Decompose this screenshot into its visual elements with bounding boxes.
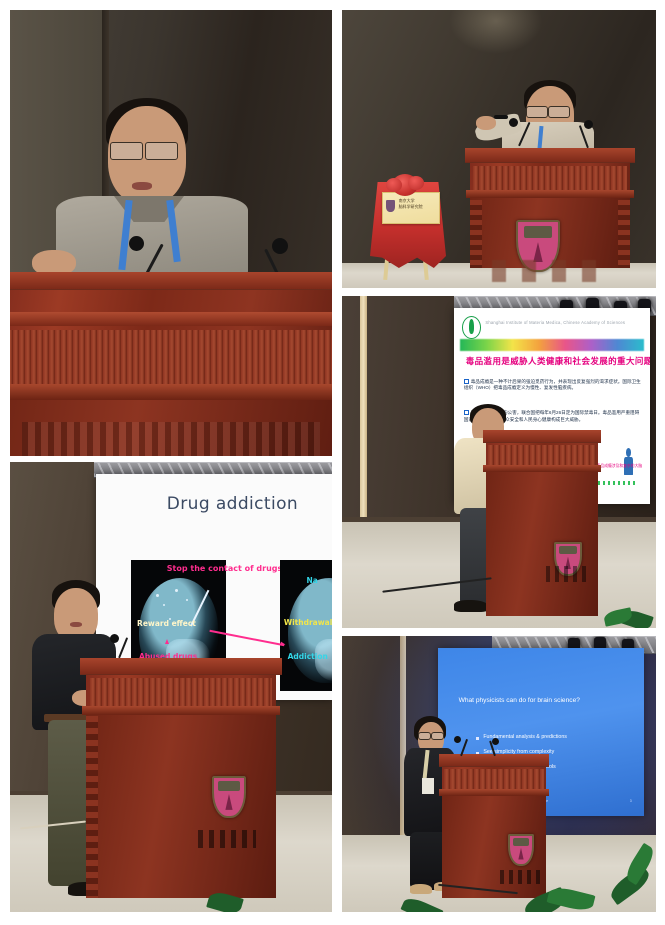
label-stop-contact: Stop the contact of drugs	[167, 564, 282, 573]
lectern-moulding	[10, 312, 332, 326]
label-addiction: Addiction	[288, 652, 328, 661]
lectern	[470, 148, 630, 268]
lectern	[486, 430, 598, 616]
microphone-head-2	[492, 738, 499, 745]
slide-title: Drug addiction	[167, 494, 298, 514]
microphone-head	[110, 634, 119, 643]
label-withdrawal: Withdrawal	[284, 618, 332, 627]
lectern-side-carving	[470, 200, 482, 268]
microphone-head-left	[129, 236, 144, 251]
lectern-top-rail	[10, 272, 332, 290]
lectern	[442, 754, 546, 898]
speaker-hand	[476, 116, 496, 130]
lectern-fluting	[90, 678, 272, 706]
lectern-mid-moulding	[82, 706, 280, 715]
lectern-fluting	[444, 769, 544, 789]
speaker-mouth	[70, 622, 82, 627]
lectern-base-carving	[500, 870, 540, 884]
microphone-head-right	[272, 238, 288, 254]
slide-bullet-1: 毒品成瘾是一种不计后果的强迫觅药行为，并表现出反复强烈的渴求症状。国际卫生组织（…	[464, 379, 642, 392]
slide-footer-note: 毒品成瘾涉及和复杂的大脑	[597, 464, 643, 469]
lectern-base-carving	[546, 566, 590, 582]
speaker-mouth	[132, 182, 152, 190]
lectern-edge-carving	[86, 716, 98, 898]
lectern-top-rail	[80, 658, 281, 675]
plaque-easel: 南京大学 脑科学研究院	[370, 174, 446, 280]
photo-lecture-brain-science[interactable]: What physicists can do for brain science…	[342, 636, 656, 912]
lectern	[86, 658, 276, 898]
plaque-seal-icon	[386, 200, 395, 213]
lectern-fluting	[473, 166, 627, 190]
institute-plaque: 南京大学 脑科学研究院	[382, 192, 440, 224]
microphone-head-left	[509, 118, 518, 127]
lectern	[10, 272, 332, 456]
speaker-glasses-right	[145, 142, 178, 160]
wall-university-name	[492, 260, 612, 282]
ceiling-glow	[449, 10, 543, 54]
lectern-body	[86, 715, 276, 898]
bullet-marker-icon	[464, 379, 469, 384]
lectern-side-carving-right	[618, 200, 630, 268]
photo-collage: 南京大学 脑科学研究院 Shan	[0, 0, 665, 925]
label-na: Na	[307, 576, 318, 585]
speaker-glasses-right	[431, 732, 444, 740]
photo-lecture-drug-addiction[interactable]: Drug addiction Reward effect Abused drug…	[10, 462, 332, 912]
speaker-glasses-right	[548, 106, 570, 118]
speaker-glasses	[418, 732, 431, 740]
speaker-badge	[422, 778, 434, 794]
microphone-head-right	[584, 120, 593, 129]
speaker-glasses	[526, 106, 548, 118]
slide-accent-bar	[460, 339, 644, 351]
photo-speaker-with-plaque[interactable]: 南京大学 脑科学研究院	[342, 10, 656, 288]
photo-lecture-drug-abuse[interactable]: Shanghai Institute of Materia Medica, Ch…	[342, 296, 656, 628]
lectern-mid-moulding	[439, 789, 549, 796]
lectern-mid-moulding	[483, 465, 601, 472]
abused-drugs-arrow	[165, 639, 169, 644]
lectern-mid-moulding	[466, 190, 634, 198]
lectern-top-rail	[483, 430, 602, 443]
pointer-device	[494, 115, 508, 119]
speaker-shoe	[410, 884, 432, 894]
brain-panel-right: Na Withdrawal Addiction	[280, 560, 332, 691]
plaque-text: 南京大学 脑科学研究院	[399, 198, 437, 210]
institute-logo-icon	[462, 316, 482, 340]
bullet-marker-icon	[464, 410, 469, 415]
lectern-base-carving	[198, 830, 256, 848]
photo-speaker-podium-closeup[interactable]	[10, 10, 332, 456]
slide-title: 毒品滥用是威胁人类健康和社会发展的重大问题	[466, 355, 642, 367]
slide-title: What physicists can do for brain science…	[459, 697, 632, 704]
speaker-shoe	[454, 600, 488, 612]
red-ribbon-bow	[392, 174, 418, 196]
microphone-head	[454, 736, 461, 743]
lectern-top-rail	[465, 148, 635, 163]
slide-header: Shanghai Institute of Materia Medica, Ch…	[485, 320, 644, 325]
lectern-fluting	[10, 330, 332, 384]
lectern-fluting	[488, 445, 596, 465]
skull-xray-image-2	[288, 578, 332, 683]
slide-page-number: 3	[630, 799, 632, 803]
speaker-glasses	[110, 142, 143, 160]
lectern-carving	[22, 422, 319, 456]
label-reward-effect: Reward effect	[137, 619, 196, 628]
lectern-lower-moulding	[10, 384, 332, 400]
